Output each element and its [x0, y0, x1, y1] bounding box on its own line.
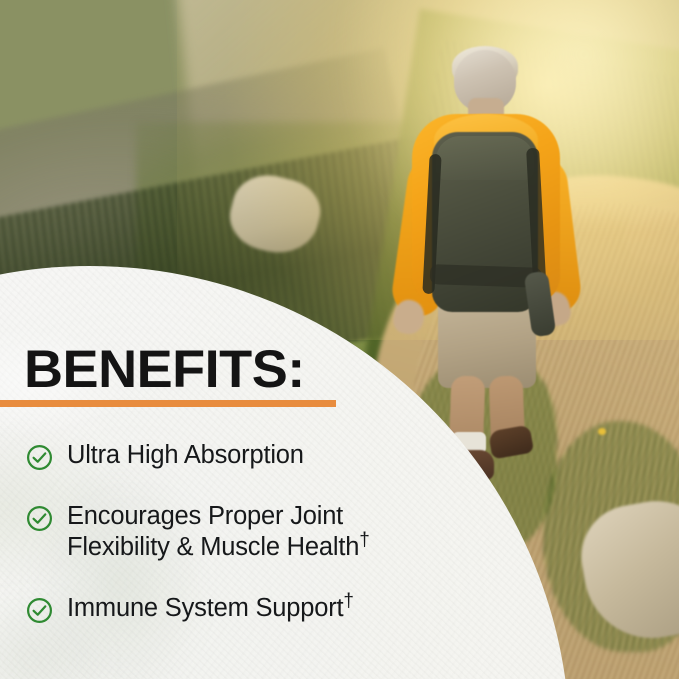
list-item: Ultra High Absorption — [0, 440, 460, 471]
check-circle-icon — [26, 597, 53, 624]
benefit-line-1: Ultra High Absorption — [67, 441, 304, 469]
page-title: BENEFITS: — [24, 343, 305, 396]
title-underline-rule — [0, 400, 336, 407]
benefit-line-2: Flexibility & Muscle Health — [67, 533, 359, 561]
benefits-graphic: BENEFITS: Ultra High Absorption — [0, 0, 679, 679]
benefit-line-1: Immune System Support — [67, 594, 343, 622]
check-circle-icon — [26, 444, 53, 471]
list-item: Immune System Support† — [0, 593, 460, 624]
dagger-symbol: † — [343, 591, 353, 612]
list-item-label: Encourages Proper JointFlexibility & Mus… — [67, 501, 370, 563]
panel-content: BENEFITS: Ultra High Absorption — [0, 0, 679, 679]
list-item-label: Immune System Support† — [67, 593, 354, 624]
dagger-symbol: † — [359, 530, 369, 551]
list-item: Encourages Proper JointFlexibility & Mus… — [0, 501, 460, 563]
benefit-line-1: Encourages Proper Joint — [67, 502, 343, 530]
check-circle-icon — [26, 505, 53, 532]
benefits-list: Ultra High Absorption Encourages Proper … — [0, 440, 460, 654]
list-item-label: Ultra High Absorption — [67, 440, 304, 471]
